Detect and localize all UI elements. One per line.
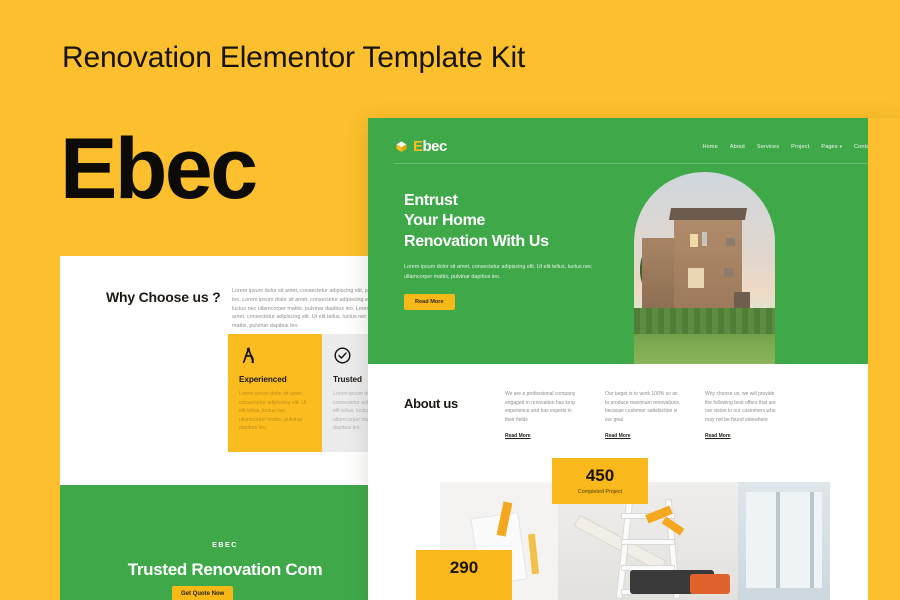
window-shape (690, 234, 698, 247)
window-shape (724, 268, 734, 277)
about-read-more-link[interactable]: Read More (705, 433, 731, 439)
hero-house-image (634, 172, 775, 364)
feature-card-text: Lorem ipsum dolor sit amet, consectetur … (239, 390, 311, 433)
nav-item-pages[interactable]: Pages▾ (821, 144, 842, 150)
stat-number: 450 (552, 467, 648, 484)
about-column-text: Our target is to work 100% so as to prod… (605, 390, 681, 424)
about-section: About us We are a professional company e… (368, 364, 900, 456)
logo-wordmark: Ebec (413, 139, 447, 154)
stat-label: Completed Project (552, 489, 648, 495)
roof-shape (669, 208, 747, 220)
logo-letter-e: E (413, 138, 423, 155)
why-choose-paragraph: Lorem ipsum dolor sit amet, consectetur … (232, 287, 390, 331)
brand-wordmark: Ebec (60, 126, 256, 212)
nav-item-home[interactable]: Home (702, 144, 717, 150)
hero-heading-line2: Your Home (404, 212, 485, 229)
back-screenshot-panel: Why Choose us ? Lorem ipsum dolor sit am… (60, 256, 390, 600)
window-shape (702, 232, 707, 246)
hero-paragraph: Lorem ipsum dolor sit amet, consectetur … (404, 263, 599, 282)
about-read-more-link[interactable]: Read More (605, 433, 631, 439)
logo-letter-rest: bec (423, 138, 447, 155)
site-logo[interactable]: Ebec (394, 139, 447, 154)
compass-icon (239, 346, 311, 368)
cta-band: EBEC Trusted Renovation Com Get Quote No… (60, 485, 390, 600)
lawn-shape (634, 334, 775, 364)
nav-links: Home About Services Project Pages▾ Conta… (702, 144, 874, 150)
about-column: We are a professional company engaged in… (505, 390, 581, 442)
about-column: Why choose us, we will provide the follo… (705, 390, 781, 442)
about-column: Our target is to work 100% so as to prod… (605, 390, 681, 442)
hero-copy: Entrust Your Home Renovation With Us Lor… (404, 191, 619, 310)
stat-card-completed-project: 450 Completed Project (552, 458, 648, 504)
hero-heading: Entrust Your Home Renovation With Us (404, 191, 619, 252)
bucket-shape (690, 574, 730, 594)
about-heading: About us (404, 396, 458, 411)
page-title: Renovation Elementor Template Kit (62, 41, 525, 75)
about-columns: We are a professional company engaged in… (505, 390, 781, 442)
window-frame-shape (746, 492, 822, 588)
nav-item-project[interactable]: Project (791, 144, 809, 150)
nav-item-about[interactable]: About (730, 144, 745, 150)
front-screenshot-panel: Ebec Home About Services Project Pages▾ … (368, 118, 900, 600)
stats-section: 450 Completed Project 290 (368, 456, 900, 600)
chevron-down-icon: ▾ (840, 144, 842, 149)
house-main-shape (674, 216, 742, 312)
cta-title: Trusted Renovation Com (60, 560, 390, 580)
window-shape (726, 238, 735, 246)
cta-kicker: EBEC (60, 542, 390, 549)
feature-card-experienced[interactable]: Experienced Lorem ipsum dolor sit amet, … (228, 334, 322, 452)
nav-item-services[interactable]: Services (757, 144, 779, 150)
feature-card-title: Experienced (239, 375, 311, 384)
stat-card-secondary: 290 (416, 550, 512, 600)
hedge-shape (634, 308, 775, 334)
hero-heading-line3: Renovation With Us (404, 233, 549, 250)
about-column-text: We are a professional company engaged in… (505, 390, 581, 424)
why-choose-heading: Why Choose us ? (106, 289, 220, 305)
hero-heading-line1: Entrust (404, 192, 458, 209)
about-read-more-link[interactable]: Read More (505, 433, 531, 439)
cube-icon (394, 139, 409, 154)
get-quote-now-button[interactable]: Get Quote Now (172, 586, 233, 600)
stat-number: 290 (416, 559, 512, 576)
nav-item-pages-label: Pages (821, 144, 837, 150)
background-right-edge (868, 118, 900, 600)
window-shape (688, 268, 704, 288)
feature-card-list: Experienced Lorem ipsum dolor sit amet, … (228, 334, 390, 452)
about-column-text: Why choose us, we will provide the follo… (705, 390, 781, 424)
poster-canvas: Renovation Elementor Template Kit Ebec W… (0, 0, 900, 600)
site-header: Ebec Home About Services Project Pages▾ … (368, 118, 900, 364)
hero-read-more-button[interactable]: Read More (404, 294, 455, 310)
navbar: Ebec Home About Services Project Pages▾ … (394, 130, 874, 164)
